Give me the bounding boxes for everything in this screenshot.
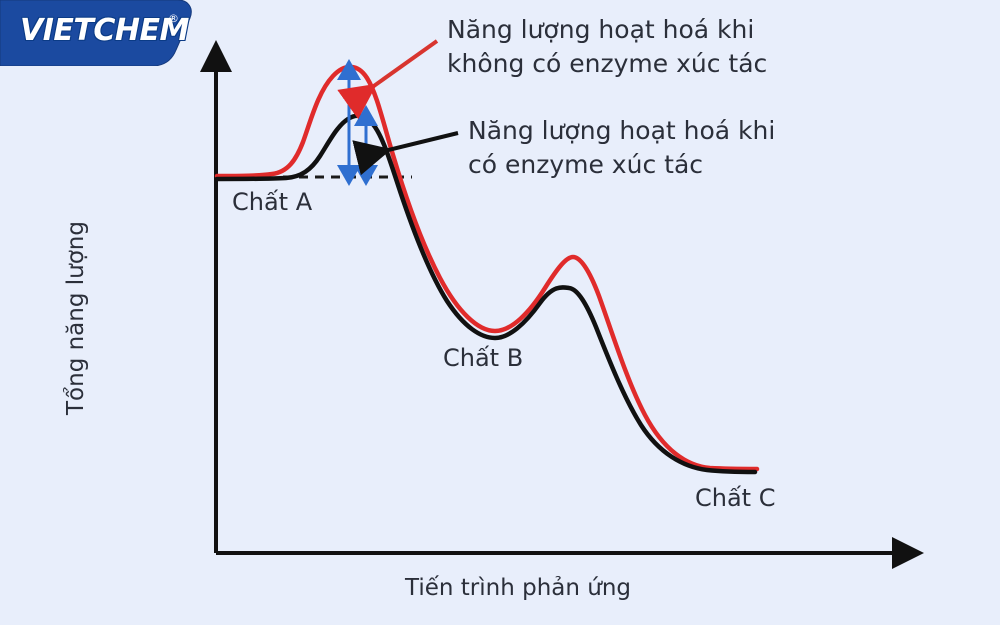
diagram-canvas: VIETCHEM ®: [0, 0, 1000, 625]
label-substance-b: Chất B: [443, 344, 523, 372]
annotation-pointer-no-enzyme: [364, 41, 437, 93]
y-axis-title: Tổng năng lượng: [63, 198, 89, 438]
annotation-with-enzyme-label: Năng lượng hoạt hoá khi có enzyme xúc tá…: [468, 114, 775, 182]
label-substance-c: Chất C: [695, 484, 775, 512]
x-axis-title: Tiến trình phản ứng: [405, 575, 631, 601]
label-substance-a: Chất A: [232, 188, 312, 216]
energy-diagram-svg: [0, 0, 1000, 625]
annotation-no-enzyme-label: Năng lượng hoạt hoá khi không có enzyme …: [447, 13, 767, 81]
